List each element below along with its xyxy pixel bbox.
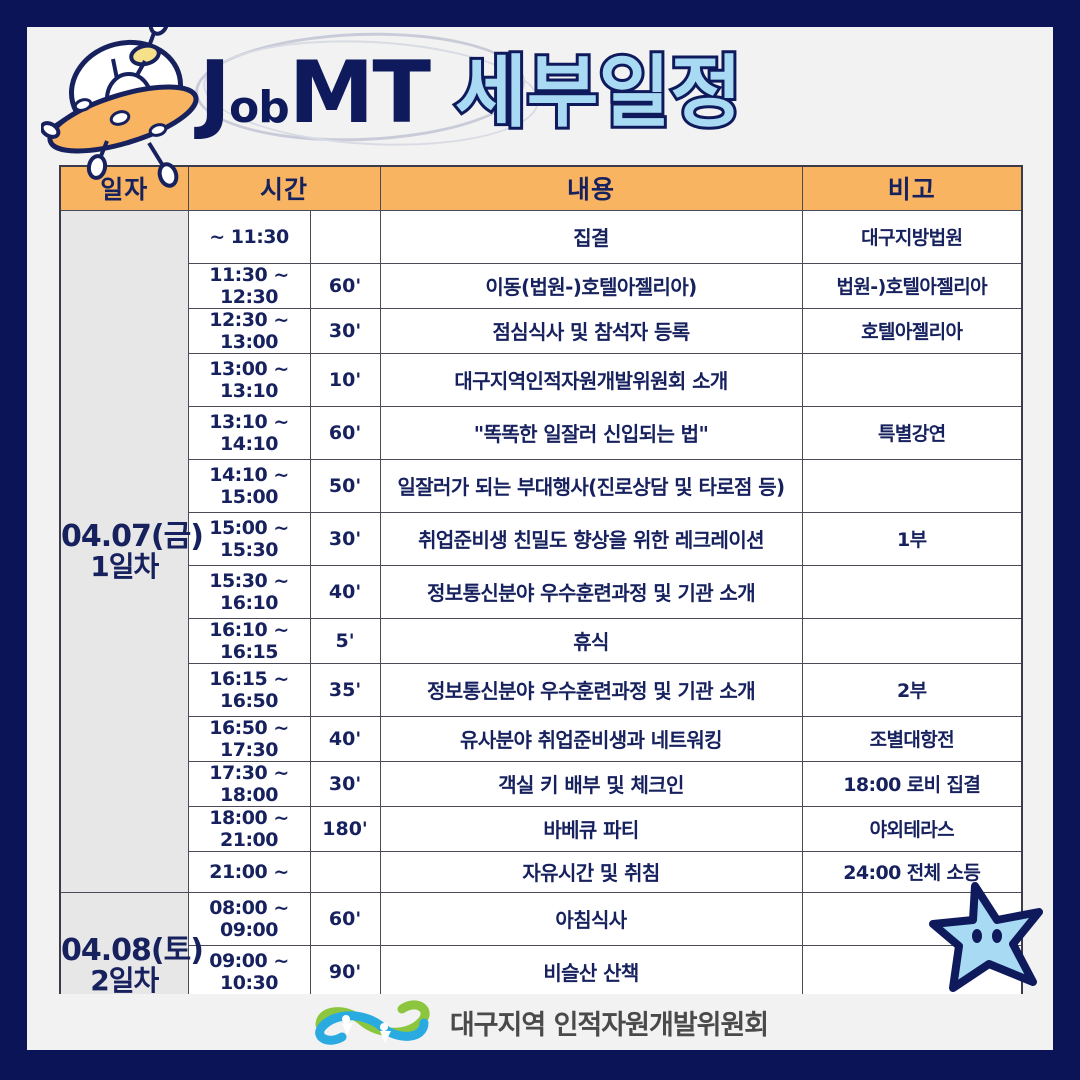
dur-cell (310, 851, 380, 892)
col-header-content: 내용 (380, 166, 802, 210)
note-cell: 야외테라스 (802, 806, 1022, 851)
note-cell (802, 618, 1022, 663)
date-line-2: 1일차 (61, 552, 188, 581)
time-cell: 16:15 ~ 16:50 (188, 663, 310, 716)
footer-org-name: 대구지역 인적자원개발위원회 (450, 1003, 768, 1042)
ufo-rabbit-icon (41, 27, 231, 207)
table-row: 14:10 ~ 15:0050'일잘러가 되는 부대행사(진로상담 및 타로점 … (60, 459, 1022, 512)
title-block: JobMT 세부일정 (199, 33, 742, 153)
table-row: 16:15 ~ 16:5035'정보통신분야 우수훈련과정 및 기관 소개2부 (60, 663, 1022, 716)
note-cell: 1부 (802, 512, 1022, 565)
poster-footer: 대구지역 인적자원개발위원회 (27, 994, 1053, 1050)
schedule-table: 일자 시간 내용 비고 04.07(금)1일차~ 11:30집결대구지방법원11… (59, 165, 1023, 1040)
table-row: 17:30 ~ 18:0030'객실 키 배부 및 체크인18:00 로비 집결 (60, 761, 1022, 806)
note-cell (802, 353, 1022, 406)
date-line-1: 04.08(토) (61, 935, 188, 967)
note-cell: 대구지방법원 (802, 210, 1022, 263)
content-cell: 아침식사 (380, 892, 802, 945)
content-cell: "똑똑한 일잘러 신입되는 법" (380, 406, 802, 459)
poster-header: JobMT 세부일정 (27, 27, 1053, 167)
content-cell: 자유시간 및 취침 (380, 851, 802, 892)
content-cell: 유사분야 취업준비생과 네트워킹 (380, 716, 802, 761)
dur-cell: 30' (310, 761, 380, 806)
time-cell: 17:30 ~ 18:00 (188, 761, 310, 806)
table-row: 04.07(금)1일차~ 11:30집결대구지방법원 (60, 210, 1022, 263)
time-cell: 08:00 ~ 09:00 (188, 892, 310, 945)
dur-cell: 5' (310, 618, 380, 663)
content-cell: 집결 (380, 210, 802, 263)
col-header-note: 비고 (802, 166, 1022, 210)
note-cell: 18:00 로비 집결 (802, 761, 1022, 806)
content-cell: 비슬산 산책 (380, 945, 802, 998)
dur-cell: 50' (310, 459, 380, 512)
dur-cell: 180' (310, 806, 380, 851)
time-cell: 09:00 ~ 10:30 (188, 945, 310, 998)
dur-cell: 30' (310, 512, 380, 565)
content-cell: 정보통신분야 우수훈련과정 및 기관 소개 (380, 565, 802, 618)
time-cell: 18:00 ~ 21:00 (188, 806, 310, 851)
date-cell: 04.07(금)1일차 (60, 210, 188, 892)
note-cell: 조별대항전 (802, 716, 1022, 761)
content-cell: 취업준비생 친밀도 향상을 위한 레크레이션 (380, 512, 802, 565)
schedule-table-wrap: 일자 시간 내용 비고 04.07(금)1일차~ 11:30집결대구지방법원11… (59, 165, 1021, 1040)
time-cell: 15:30 ~ 16:10 (188, 565, 310, 618)
time-cell: 14:10 ~ 15:00 (188, 459, 310, 512)
content-cell: 객실 키 배부 및 체크인 (380, 761, 802, 806)
table-row: 13:00 ~ 13:1010'대구지역인적자원개발위원회 소개 (60, 353, 1022, 406)
time-cell: 16:50 ~ 17:30 (188, 716, 310, 761)
table-row: 16:10 ~ 16:155'휴식 (60, 618, 1022, 663)
logo-jobmt: JobMT (199, 50, 429, 136)
table-row: 09:00 ~ 10:3090'비슬산 산책 (60, 945, 1022, 998)
table-row: 12:30 ~ 13:0030'점심식사 및 참석자 등록호텔아젤리아 (60, 308, 1022, 353)
dur-cell: 30' (310, 308, 380, 353)
content-cell: 이동(법원-)호텔아젤리아) (380, 263, 802, 308)
time-cell: 16:10 ~ 16:15 (188, 618, 310, 663)
star-face-icon (929, 876, 1051, 994)
note-cell: 법원-)호텔아젤리아 (802, 263, 1022, 308)
note-cell: 호텔아젤리아 (802, 308, 1022, 353)
date-line-2: 2일차 (61, 966, 188, 995)
poster-page: JobMT 세부일정 일자 시간 내용 비고 04.07 (27, 27, 1053, 1050)
dur-cell: 10' (310, 353, 380, 406)
poster-frame: JobMT 세부일정 일자 시간 내용 비고 04.07 (0, 0, 1080, 1080)
table-row: 18:00 ~ 21:00180'바베큐 파티야외테라스 (60, 806, 1022, 851)
dur-cell: 60' (310, 892, 380, 945)
time-cell: ~ 11:30 (188, 210, 310, 263)
table-row: 04.08(토)2일차08:00 ~ 09:0060'아침식사 (60, 892, 1022, 945)
table-row: 11:30 ~ 12:3060'이동(법원-)호텔아젤리아)법원-)호텔아젤리아 (60, 263, 1022, 308)
content-cell: 바베큐 파티 (380, 806, 802, 851)
content-cell: 정보통신분야 우수훈련과정 및 기관 소개 (380, 663, 802, 716)
dur-cell: 60' (310, 406, 380, 459)
time-cell: 15:00 ~ 15:30 (188, 512, 310, 565)
table-row: 21:00 ~자유시간 및 취침24:00 전체 소등 (60, 851, 1022, 892)
time-cell: 13:00 ~ 13:10 (188, 353, 310, 406)
date-line-1: 04.07(금) (61, 521, 188, 553)
dur-cell: 35' (310, 663, 380, 716)
time-cell: 13:10 ~ 14:10 (188, 406, 310, 459)
table-row: 15:30 ~ 16:1040'정보통신분야 우수훈련과정 및 기관 소개 (60, 565, 1022, 618)
title-korean: 세부일정 (455, 54, 742, 132)
content-cell: 대구지역인적자원개발위원회 소개 (380, 353, 802, 406)
note-cell: 특별강연 (802, 406, 1022, 459)
dur-cell: 40' (310, 716, 380, 761)
time-cell: 21:00 ~ (188, 851, 310, 892)
dur-cell (310, 210, 380, 263)
time-cell: 11:30 ~ 12:30 (188, 263, 310, 308)
content-cell: 휴식 (380, 618, 802, 663)
dur-cell: 60' (310, 263, 380, 308)
note-cell: 2부 (802, 663, 1022, 716)
infinity-people-logo (312, 999, 436, 1045)
logo-mt: MT (289, 50, 429, 136)
content-cell: 일잘러가 되는 부대행사(진로상담 및 타로점 등) (380, 459, 802, 512)
table-row: 16:50 ~ 17:3040'유사분야 취업준비생과 네트워킹조별대항전 (60, 716, 1022, 761)
note-cell (802, 459, 1022, 512)
table-row: 13:10 ~ 14:1060'"똑똑한 일잘러 신입되는 법"특별강연 (60, 406, 1022, 459)
time-cell: 12:30 ~ 13:00 (188, 308, 310, 353)
content-cell: 점심식사 및 참석자 등록 (380, 308, 802, 353)
logo-ob: ob (229, 86, 289, 130)
dur-cell: 90' (310, 945, 380, 998)
note-cell (802, 565, 1022, 618)
dur-cell: 40' (310, 565, 380, 618)
table-row: 15:00 ~ 15:3030'취업준비생 친밀도 향상을 위한 레크레이션1부 (60, 512, 1022, 565)
